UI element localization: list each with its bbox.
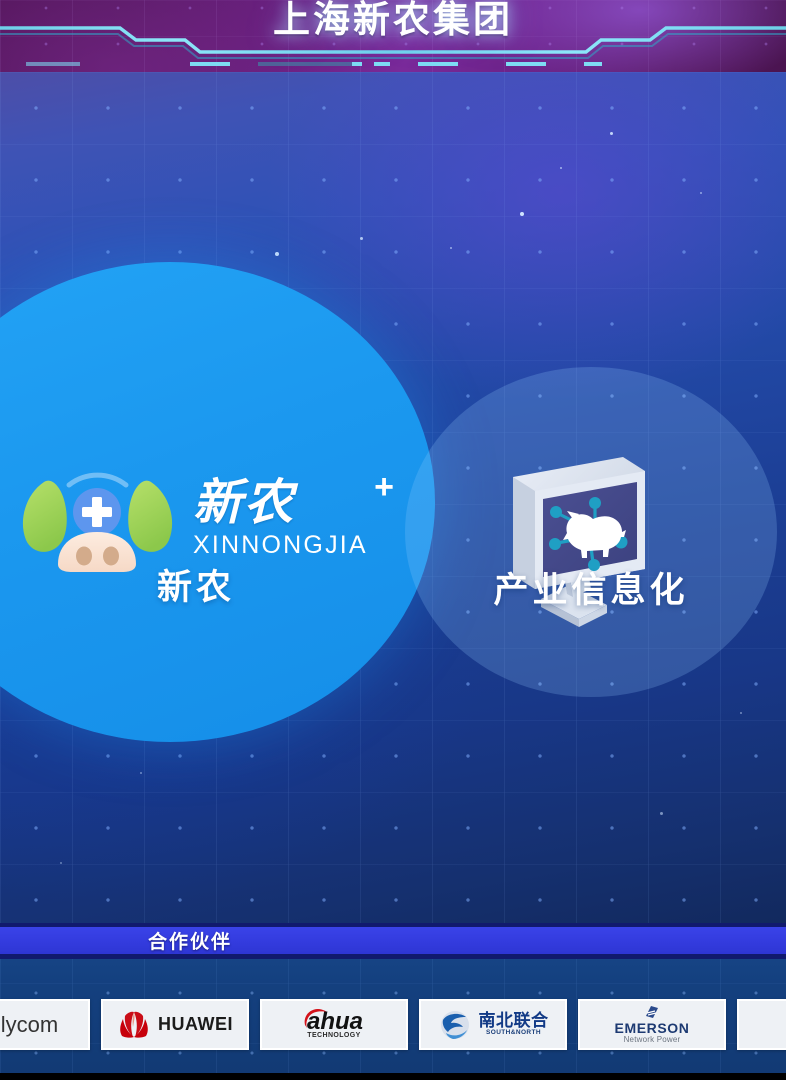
southnorth-en-wordmark: SOUTH&NORTH <box>486 1030 541 1037</box>
venn-circles: 新农 + XINNONGJIA 新农 <box>0 72 786 923</box>
page-title: 上海新农集团 <box>0 0 786 43</box>
southnorth-cn-wordmark: 南北联合 <box>479 1012 549 1030</box>
southnorth-swoosh-icon <box>438 1009 472 1041</box>
partners-title-bar: 合作伙伴 <box>0 923 786 959</box>
dahua-a-glyph: a <box>305 1009 320 1034</box>
circle-label-industry: 产业信息化 <box>405 562 777 613</box>
emerson-tagline: Network Power <box>624 1036 681 1044</box>
page-header: 上海新农集团 <box>0 0 786 72</box>
app-screen: 上海新农集团 <box>0 0 786 1080</box>
emerson-mark-icon <box>642 1005 662 1020</box>
partners-logo-strip[interactable]: Polycom HUAWEI <box>0 999 786 1050</box>
main-stage: 新农 + XINNONGJIA 新农 <box>0 72 786 923</box>
brand-name-en: XINNONGJIA <box>193 533 378 558</box>
partners-section: 合作伙伴 Polycom HUAWEI <box>0 923 786 1073</box>
partner-logo-polycom[interactable]: Polycom <box>0 999 90 1050</box>
brand-name-cn: 新农 <box>193 478 378 527</box>
bottom-letterbox <box>0 1073 786 1080</box>
partner-logo-emerson[interactable]: EMERSON Network Power <box>578 999 726 1050</box>
partner-logo-southnorth[interactable]: 南北联合 SOUTH&NORTH <box>419 999 567 1050</box>
polycom-wordmark: Polycom <box>0 1012 58 1038</box>
dahua-wordmark: hua <box>320 1009 363 1034</box>
partner-logo-dahua[interactable]: a hua TECHNOLOGY <box>260 999 408 1050</box>
partners-title: 合作伙伴 <box>148 927 232 954</box>
brand-plus-superscript: + <box>374 470 394 504</box>
huawei-wordmark: HUAWEI <box>158 1014 233 1035</box>
xinnong-wordmark: 新农 + XINNONGJIA <box>193 478 378 558</box>
emerson-wordmark: EMERSON <box>615 1021 690 1036</box>
huawei-petal-icon <box>117 1010 151 1040</box>
partner-logo-huawei[interactable]: HUAWEI <box>101 999 249 1050</box>
partner-logo-globe[interactable] <box>737 999 786 1050</box>
circle-label-xinnong: 新农 <box>0 559 392 610</box>
